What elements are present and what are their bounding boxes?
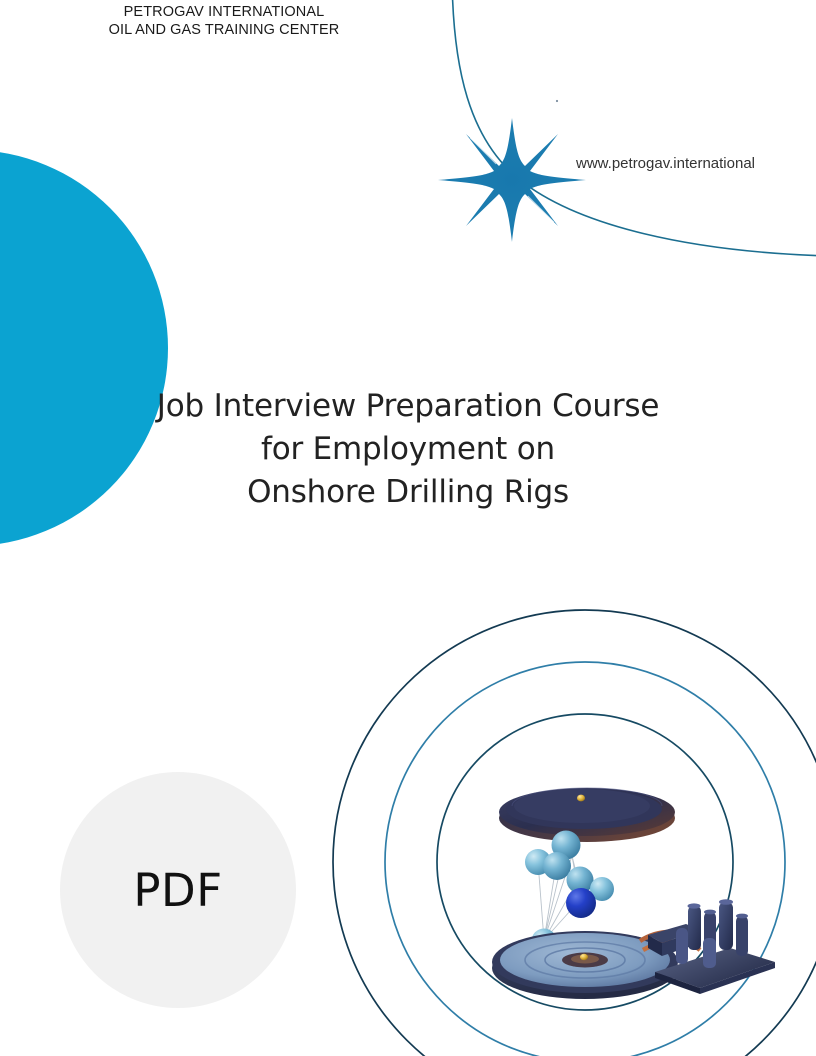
star-burst-icon	[438, 118, 586, 242]
top-decorative-arc	[452, 0, 816, 256]
equipment-skid	[640, 899, 775, 994]
lower-rotary-disc	[492, 931, 678, 999]
org-name-line-2: OIL AND GAS TRAINING CENTER	[0, 21, 448, 39]
page-title-line-3: Onshore Drilling Rigs	[108, 471, 708, 514]
page-title-line-2: for Employment on	[108, 428, 708, 471]
speck-dot	[556, 100, 558, 102]
organization-name: PETROGAV INTERNATIONAL OIL AND GAS TRAIN…	[0, 3, 448, 39]
website-url[interactable]: www.petrogav.international	[576, 155, 755, 172]
ring-outer	[333, 610, 816, 1056]
drilling-rig-molecule-illustration	[492, 788, 775, 999]
molecule-spheres	[525, 831, 614, 954]
page-title: Job Interview Preparation Course for Emp…	[108, 385, 708, 514]
upper-rotary-disc	[499, 788, 675, 842]
ring-middle	[385, 662, 785, 1056]
pdf-badge-label: PDF	[60, 772, 296, 1008]
org-name-line-1: PETROGAV INTERNATIONAL	[0, 3, 448, 21]
page-title-line-1: Job Interview Preparation Course	[108, 385, 708, 428]
molecule-bonds	[538, 845, 600, 940]
concentric-rings	[333, 610, 816, 1056]
ring-inner	[437, 714, 733, 1010]
document-page: PETROGAV INTERNATIONAL OIL AND GAS TRAIN…	[0, 0, 816, 1056]
